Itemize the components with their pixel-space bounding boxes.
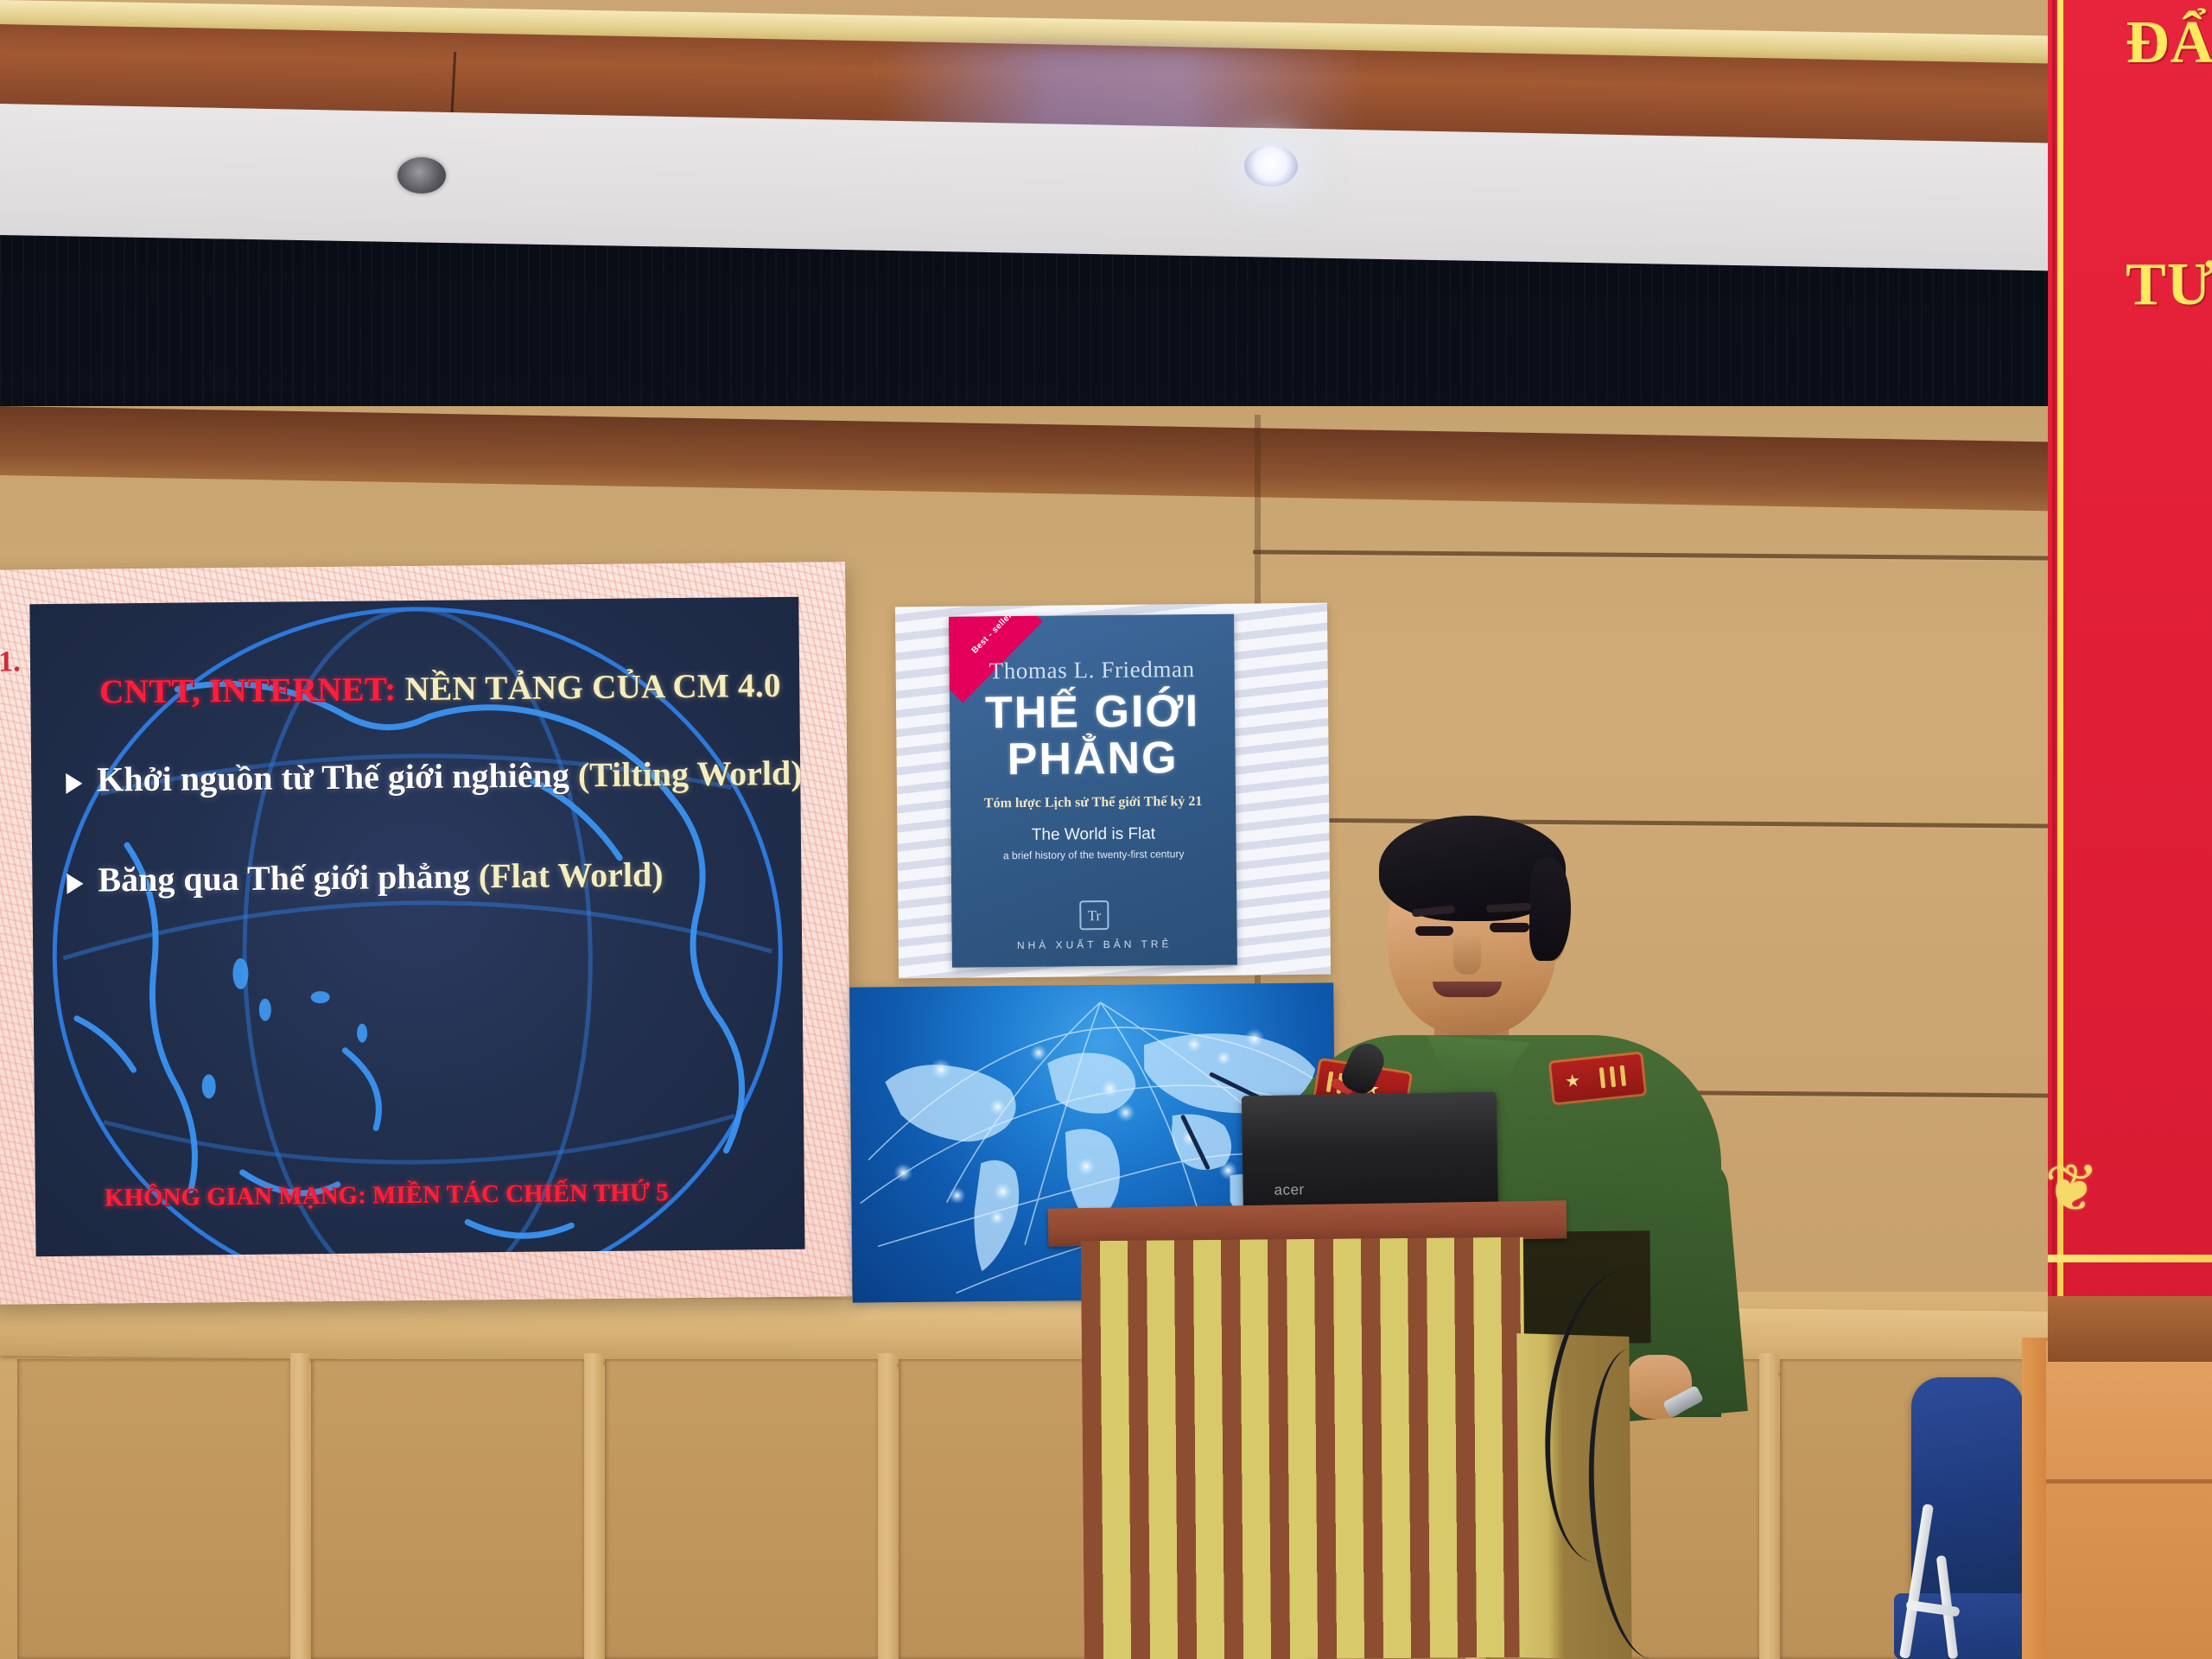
banner-word-bottom: TƯ	[2126, 251, 2212, 320]
banner-yellow-stripe	[2057, 0, 2063, 1348]
slide-content-panel: CNTT, INTERNET: NỀN TẢNG CỦA CM 4.0 Khởi…	[29, 597, 804, 1257]
wainscot-panel	[17, 1359, 292, 1659]
foreground-wood-panel	[2046, 1341, 2212, 1659]
red-banner	[2048, 0, 2212, 1348]
slide-bullet-1: Khởi nguồn từ Thế giới nghiêng (Tilting …	[97, 753, 803, 800]
book-cover: Best - seller Thomas L. Friedman THẾ GIỚ…	[949, 614, 1237, 968]
book-cover-image: Best - seller Thomas L. Friedman THẾ GIỚ…	[895, 603, 1331, 979]
banner-ornament-icon: ❦	[2044, 1149, 2148, 1227]
book-title-line1: THẾ GIỚI	[950, 689, 1235, 736]
publisher-logo-icon: Tr	[1079, 900, 1109, 930]
hair-side	[1529, 857, 1571, 961]
banner-bottom-line	[2048, 1255, 2212, 1262]
bullet-1-vn: Khởi nguồn từ Thế giới nghiêng	[97, 755, 578, 798]
wainscot-panel	[311, 1359, 586, 1659]
slide-title-cream: NỀN TẢNG CỦA CM 4.0	[396, 667, 781, 708]
bullet-2-vn: Băng qua Thế giới phẳng	[98, 856, 479, 899]
wainscot-divider	[1759, 1353, 1778, 1659]
wainscot-divider	[290, 1353, 309, 1659]
slide-title-red: CNTT, INTERNET:	[99, 671, 397, 710]
wainscot-divider	[584, 1353, 603, 1659]
foreground-panel-seam	[2046, 1479, 2212, 1484]
bullet-1-en: (Tilting World)	[578, 753, 803, 794]
book-title-en: The World is Flat	[950, 824, 1236, 846]
bullet-2-en: (Flat World)	[479, 855, 664, 895]
laptop-brand-label: acer	[1274, 1181, 1304, 1199]
banner-inner-edge	[2052, 0, 2056, 1348]
recessed-downlight-off-icon	[397, 157, 446, 194]
podium-body	[1081, 1237, 1527, 1659]
projection-screen: 1.	[0, 562, 852, 1305]
mouth	[1433, 982, 1502, 997]
book-subtitle-en: a brief history of the twenty-first cent…	[951, 848, 1236, 862]
recessed-downlight-on-icon	[1244, 145, 1298, 187]
eye-right	[1490, 923, 1529, 932]
wainscot-panel	[605, 1359, 880, 1659]
podium-slats	[1081, 1237, 1527, 1659]
banner-word-top: ĐẨY	[2126, 9, 2212, 78]
book-publisher: NHÀ XUẤT BẢN TRẺ	[952, 938, 1237, 952]
eye-left	[1415, 926, 1453, 936]
book-subtitle-vn: Tóm lược Lịch sử Thế giới Thế kỷ 21	[950, 794, 1236, 812]
book-title-line2: PHẲNG	[950, 735, 1235, 783]
slide-footer-text: KHÔNG GIAN MẠNG: MIỀN TÁC CHIẾN THỨ 5	[105, 1178, 805, 1213]
banner-base	[2048, 1296, 2212, 1362]
slide-item-number: 1.	[0, 645, 30, 678]
wainscot-divider	[878, 1353, 897, 1659]
conference-hall-photo: 1.	[0, 0, 2212, 1659]
book-author: Thomas L. Friedman	[950, 656, 1235, 685]
nose	[1453, 933, 1481, 975]
slide-bullet-2: Băng qua Thế giới phẳng (Flat World)	[98, 854, 664, 899]
slide-title: CNTT, INTERNET: NỀN TẢNG CỦA CM 4.0	[99, 665, 804, 711]
chair-backrest[interactable]	[1911, 1377, 2024, 1604]
